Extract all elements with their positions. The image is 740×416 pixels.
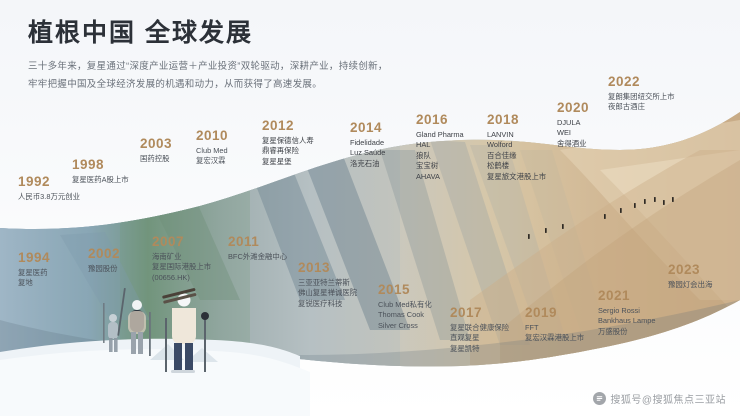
sohu-glyph-icon	[595, 394, 604, 403]
milestone-1998: 1998 复星医药A股上市	[72, 157, 129, 185]
milestone-item: Thomas Cook	[378, 310, 432, 321]
milestone-year: 2023	[668, 262, 712, 278]
milestone-2014: 2014 Fidelidade Luz Saúde 洛克石油	[350, 120, 385, 169]
milestone-item: 复宏汉霖港股上市	[525, 333, 584, 344]
milestone-item: 海南矿业	[152, 252, 211, 263]
milestone-item: 复星联合健康保险	[450, 323, 509, 334]
milestone-year: 2010	[196, 128, 228, 144]
milestone-year: 2016	[416, 112, 464, 128]
milestone-item: 松鹤楼	[487, 161, 546, 172]
milestone-2003: 2003 国药控股	[140, 136, 172, 164]
milestone-item: Bankhaus Lampe	[598, 316, 656, 327]
milestone-item: WEI	[557, 128, 589, 139]
milestone-item: BFC外滩金融中心	[228, 252, 287, 263]
milestone-year: 2022	[608, 74, 675, 90]
sohu-logo-icon	[593, 392, 606, 405]
milestone-item: 万盛股份	[598, 327, 656, 338]
milestone-item: AHAVA	[416, 172, 464, 183]
milestone-year: 1998	[72, 157, 129, 173]
milestone-2007: 2007 海南矿业 复星国际港股上市 (00656.HK)	[152, 234, 211, 283]
milestone-item: 复地	[18, 278, 50, 289]
milestone-item: Sergio Rossi	[598, 306, 656, 317]
milestone-item: 百合佳缘	[487, 151, 546, 162]
milestone-1992: 1992 人民币3.8万元创业	[18, 174, 80, 202]
milestone-year: 2015	[378, 282, 432, 298]
milestone-year: 2013	[298, 260, 357, 276]
milestone-year: 2019	[525, 305, 584, 321]
milestone-item: 复星保德信人寿	[262, 136, 314, 147]
milestone-item: Club Med	[196, 146, 228, 157]
milestone-item: 复朗集团纽交所上市	[608, 92, 675, 103]
milestone-item: 豫园灯会出海	[668, 280, 712, 291]
header-block: 植根中国 全球发展 三十多年来，复星通过“深度产业运营＋产业投资”双轮驱动，深耕…	[28, 18, 588, 93]
milestone-2010: 2010 Club Med 复宏汉霖	[196, 128, 228, 167]
milestone-item: FFT	[525, 323, 584, 334]
milestone-2012: 2012 复星保德信人寿 鼎睿再保险 复星星堡	[262, 118, 314, 167]
milestone-year: 2018	[487, 112, 546, 128]
milestone-2022: 2022 复朗集团纽交所上市 夜郎古酒庄	[608, 74, 675, 113]
watermark-text: 搜狐号@搜狐焦点三亚站	[610, 391, 726, 406]
page-title: 植根中国 全球发展	[28, 18, 588, 48]
milestone-year: 2021	[598, 288, 656, 304]
milestone-item: Club Med私有化	[378, 300, 432, 311]
milestone-item: 复星凯特	[450, 344, 509, 355]
milestone-year: 2011	[228, 234, 287, 250]
milestone-year: 2020	[557, 100, 589, 116]
milestone-item: 三亚亚特兰蒂斯	[298, 278, 357, 289]
milestone-item: 复星医药	[18, 268, 50, 279]
milestone-2019: 2019 FFT 复宏汉霖港股上市	[525, 305, 584, 344]
milestone-item: (00656.HK)	[152, 273, 211, 284]
milestone-year: 2002	[88, 246, 120, 262]
milestone-item: 人民币3.8万元创业	[18, 192, 80, 203]
milestone-2021: 2021 Sergio Rossi Bankhaus Lampe 万盛股份	[598, 288, 656, 337]
milestone-item: 豫园股份	[88, 264, 120, 275]
milestone-item: DJULA	[557, 118, 589, 129]
milestone-item: 复星旅文港股上市	[487, 172, 546, 183]
milestone-item: 佛山复星禅诚医院	[298, 288, 357, 299]
watermark: 搜狐号@搜狐焦点三亚站	[593, 391, 726, 406]
milestone-item: HAL	[416, 140, 464, 151]
milestone-item: 复星国际港股上市	[152, 262, 211, 273]
milestone-item: 宝宝树	[416, 161, 464, 172]
milestone-2020: 2020 DJULA WEI 舍得酒业	[557, 100, 589, 149]
milestone-item: Fidelidade	[350, 138, 385, 149]
milestone-item: 复星星堡	[262, 157, 314, 168]
milestone-2015: 2015 Club Med私有化 Thomas Cook Silver Cros…	[378, 282, 432, 331]
milestone-item: Wolford	[487, 140, 546, 151]
milestone-item: 鼎睿再保险	[262, 146, 314, 157]
milestone-item: 国药控股	[140, 154, 172, 165]
milestone-2016: 2016 Gland Pharma HAL 狼队 宝宝树 AHAVA	[416, 112, 464, 182]
milestone-item: 洛克石油	[350, 159, 385, 170]
milestone-year: 2017	[450, 305, 509, 321]
milestone-item: LANVIN	[487, 130, 546, 141]
milestone-1994: 1994 复星医药 复地	[18, 250, 50, 289]
milestone-item: 舍得酒业	[557, 139, 589, 150]
milestone-item: 狼队	[416, 151, 464, 162]
milestone-2017: 2017 复星联合健康保险 直观复星 复星凯特	[450, 305, 509, 354]
subtitle-line-2: 牢牢把握中国及全球经济发展的机遇和动力，从而获得了高速发展。	[28, 76, 588, 94]
milestone-item: Gland Pharma	[416, 130, 464, 141]
milestone-year: 2007	[152, 234, 211, 250]
infographic-canvas: 植根中国 全球发展 三十多年来，复星通过“深度产业运营＋产业投资”双轮驱动，深耕…	[0, 0, 740, 416]
milestone-item: 复星医药A股上市	[72, 175, 129, 186]
milestone-item: 直观复星	[450, 333, 509, 344]
milestone-item: 复锐医疗科技	[298, 299, 357, 310]
milestone-year: 1994	[18, 250, 50, 266]
milestone-item: 夜郎古酒庄	[608, 102, 675, 113]
milestone-item: 复宏汉霖	[196, 156, 228, 167]
milestone-2013: 2013 三亚亚特兰蒂斯 佛山复星禅诚医院 复锐医疗科技	[298, 260, 357, 309]
subtitle-line-1: 三十多年来，复星通过“深度产业运营＋产业投资”双轮驱动，深耕产业，持续创新，	[28, 58, 588, 76]
milestone-2018: 2018 LANVIN Wolford 百合佳缘 松鹤楼 复星旅文港股上市	[487, 112, 546, 182]
page-subtitle: 三十多年来，复星通过“深度产业运营＋产业投资”双轮驱动，深耕产业，持续创新， 牢…	[28, 58, 588, 93]
milestone-2023: 2023 豫园灯会出海	[668, 262, 712, 290]
milestone-year: 2003	[140, 136, 172, 152]
milestone-item: Luz Saúde	[350, 148, 385, 159]
milestone-2002: 2002 豫园股份	[88, 246, 120, 274]
milestone-year: 2014	[350, 120, 385, 136]
milestone-year: 2012	[262, 118, 314, 134]
milestone-2011: 2011 BFC外滩金融中心	[228, 234, 287, 262]
milestone-item: Silver Cross	[378, 321, 432, 332]
milestone-year: 1992	[18, 174, 80, 190]
